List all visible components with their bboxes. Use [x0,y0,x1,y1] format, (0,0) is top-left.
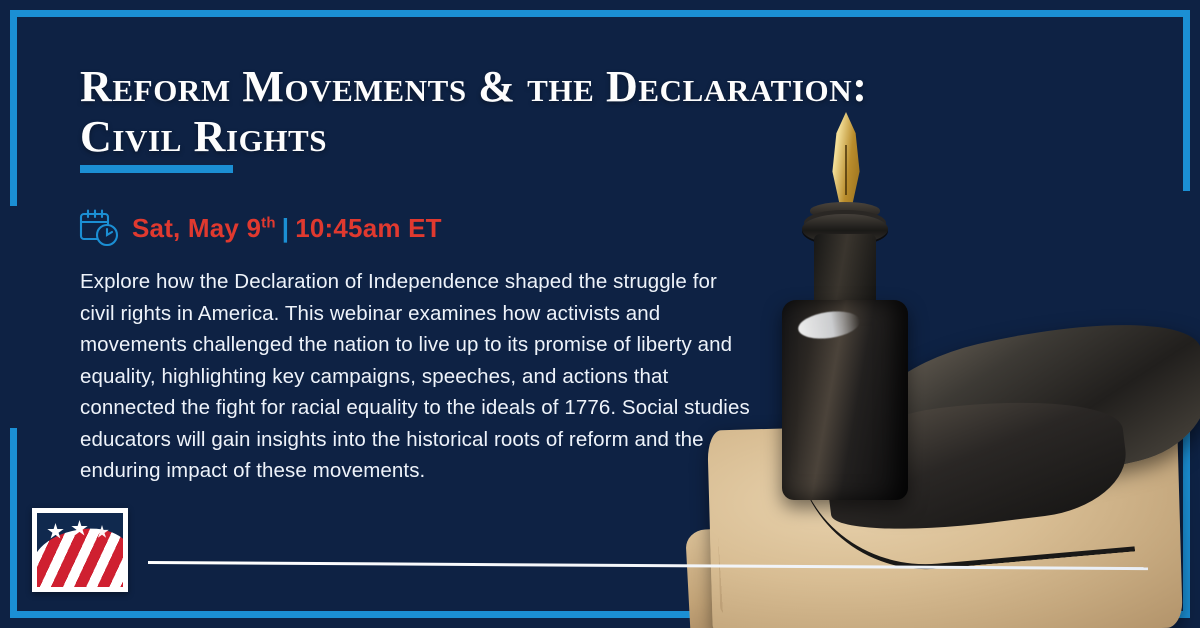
event-datetime-text: Sat, May 9th|10:45am ET [132,213,442,244]
page-title: Reform Movements & the Declaration: Civi… [80,62,980,162]
frame-border-left-lower [10,428,17,618]
american-flag-emblem-logo [32,508,128,592]
ink-bottle [782,200,908,500]
frame-border-left-upper [10,10,17,206]
event-date: Sat, May 9 [132,213,261,243]
webinar-promo-banner: Reform Movements & the Declaration: Civi… [0,0,1200,628]
datetime-separator: | [282,213,289,243]
event-description: Explore how the Declaration of Independe… [80,266,755,487]
frame-border-top [10,10,1190,17]
flag-stripes [37,527,123,587]
title-accent-bar [80,165,233,173]
event-time: 10:45am ET [295,213,442,243]
logo-field [37,513,123,587]
calendar-clock-icon [78,208,120,248]
bottle-neck [814,234,876,308]
event-datetime: Sat, May 9th|10:45am ET [78,208,442,248]
quill-inkwell-parchment-photo [680,100,1200,628]
event-date-ordinal: th [261,214,276,231]
bottle-body [782,300,908,500]
